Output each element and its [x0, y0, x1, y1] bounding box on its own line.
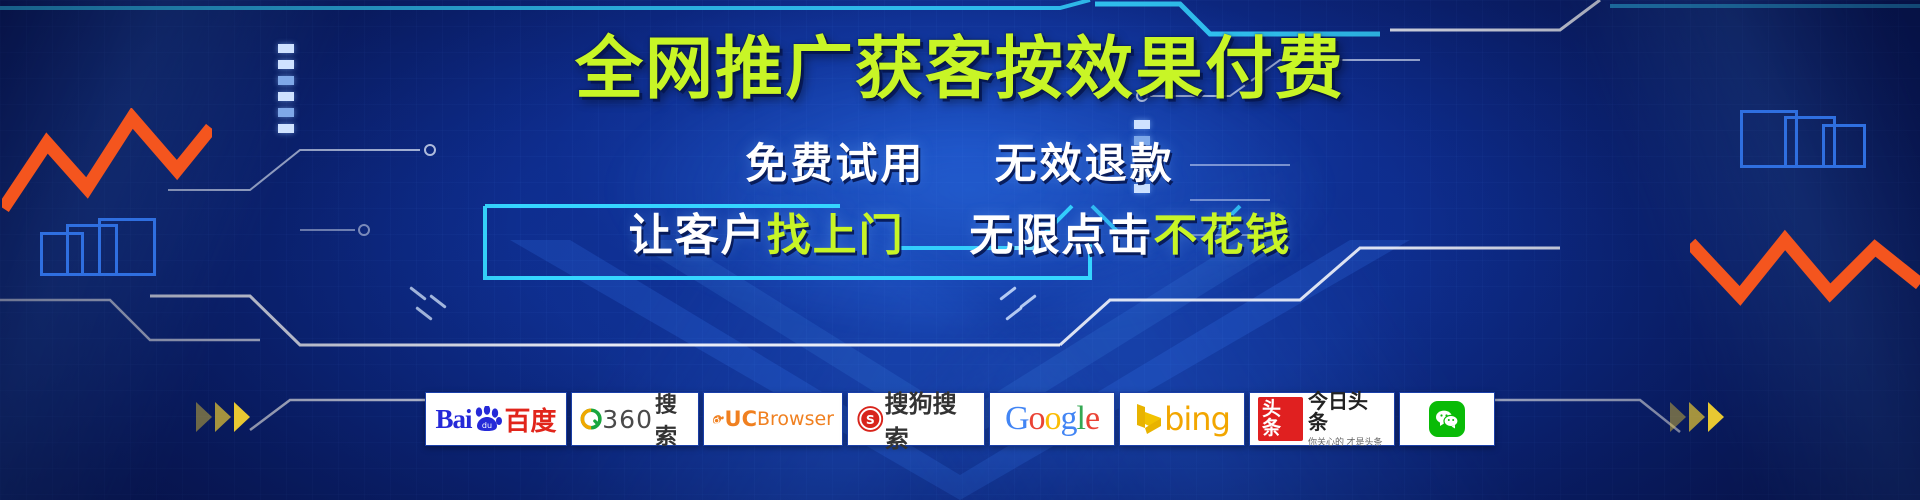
dash-decor [429, 294, 447, 309]
bing-wordmark: bing [1164, 400, 1230, 438]
page-title: 全网推广获客按效果付费 [0, 36, 1920, 104]
wechat-icon [1429, 401, 1465, 437]
logo-360-number: 360 [602, 405, 653, 434]
svg-text:du: du [481, 421, 491, 430]
logo-wechat[interactable] [1399, 392, 1495, 446]
cta-left-white: 让客户 [629, 210, 767, 261]
subtitle-right: 无效退款 [995, 139, 1175, 188]
logo-toutiao[interactable]: 头条 今日头条 你关心的 才是头条 [1249, 392, 1395, 446]
dash-decor [999, 286, 1017, 301]
svg-text:S: S [866, 413, 875, 427]
uc-latin: UC [725, 407, 757, 431]
dash-decor [1005, 306, 1023, 321]
logo-google[interactable]: Google [989, 392, 1115, 446]
cta-right-green: 不花钱 [1153, 210, 1291, 261]
logo-360-cn: 搜索 [655, 387, 690, 451]
cta-text: 让客户找上门 无限点击不花钱 [629, 199, 1292, 263]
toutiao-badge: 头条 [1258, 397, 1303, 441]
logo-360-search[interactable]: 360 搜索 [571, 392, 699, 446]
cta-right-white: 无限点击 [969, 210, 1153, 261]
dash-decor [409, 286, 427, 301]
promo-banner: 全网推广获客按效果付费 免费试用 无效退款 让客户找上门 无限点击不花钱 Bai [0, 0, 1920, 500]
sogou-cn: 搜狗搜索 [885, 384, 976, 454]
logo-sogou-search[interactable]: S 搜狗搜索 [847, 392, 985, 446]
cta-line-wrap: 让客户找上门 无限点击不花钱 [0, 195, 1920, 267]
logo-uc-browser[interactable]: UCBrowser [703, 392, 843, 446]
partner-logo-strip: Bai du 百度 360 搜索 [0, 392, 1920, 446]
logo-baidu[interactable]: Bai du 百度 [425, 392, 567, 446]
baidu-paw-icon: du [472, 406, 502, 432]
cta-left-green: 找上门 [767, 210, 905, 261]
google-wordmark-icon: Google [1005, 400, 1099, 438]
baidu-latin: Bai [435, 404, 471, 435]
sogou-s-icon: S [856, 404, 885, 434]
dash-decor [415, 306, 433, 321]
headline-block: 全网推广获客按效果付费 免费试用 无效退款 [0, 36, 1920, 191]
uc-squirrel-icon [712, 405, 725, 433]
360-circle-icon [580, 405, 602, 433]
baidu-cn: 百度 [505, 401, 557, 438]
logo-bing[interactable]: bing [1119, 392, 1245, 446]
cta-neon-box: 让客户找上门 无限点击不花钱 [650, 195, 1270, 267]
subtitle-left: 免费试用 [745, 139, 925, 188]
v-shape-decor [510, 240, 1410, 500]
subtitle: 免费试用 无效退款 [0, 130, 1920, 191]
uc-latin2: Browser [757, 408, 834, 430]
toutiao-cn: 今日头条 [1308, 391, 1386, 433]
bing-b-icon [1134, 402, 1164, 436]
toutiao-tagline: 你关心的 才是头条 [1308, 435, 1383, 448]
